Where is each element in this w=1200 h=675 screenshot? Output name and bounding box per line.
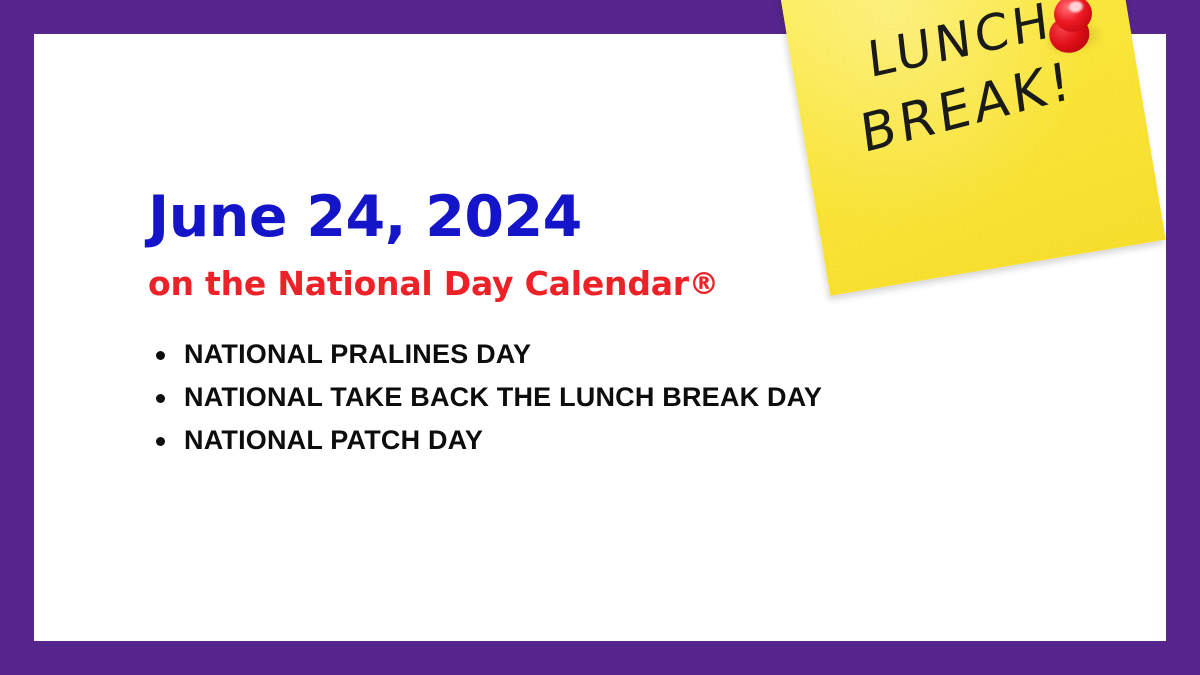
page-subtitle: on the National Day Calendar® xyxy=(148,267,719,300)
list-item-label: NATIONAL TAKE BACK THE LUNCH BREAK DAY xyxy=(184,382,822,412)
list-item: NATIONAL TAKE BACK THE LUNCH BREAK DAY xyxy=(148,382,822,413)
list-item: NATIONAL PRALINES DAY xyxy=(148,339,822,370)
page-title: June 24, 2024 xyxy=(148,189,582,246)
registered-trademark-icon: ® xyxy=(689,267,719,302)
list-item: NATIONAL PATCH DAY xyxy=(148,425,822,456)
bullet-icon xyxy=(156,437,165,446)
list-item-label: NATIONAL PATCH DAY xyxy=(184,425,483,455)
graphic-canvas: June 24, 2024 on the National Day Calend… xyxy=(0,0,1200,675)
bullet-icon xyxy=(156,394,165,403)
pushpin-icon xyxy=(1037,0,1109,63)
bullet-icon xyxy=(156,351,165,360)
page-subtitle-text: on the National Day Calendar xyxy=(148,264,689,303)
list-item-label: NATIONAL PRALINES DAY xyxy=(184,339,531,369)
national-days-list: NATIONAL PRALINES DAY NATIONAL TAKE BACK… xyxy=(148,339,822,468)
